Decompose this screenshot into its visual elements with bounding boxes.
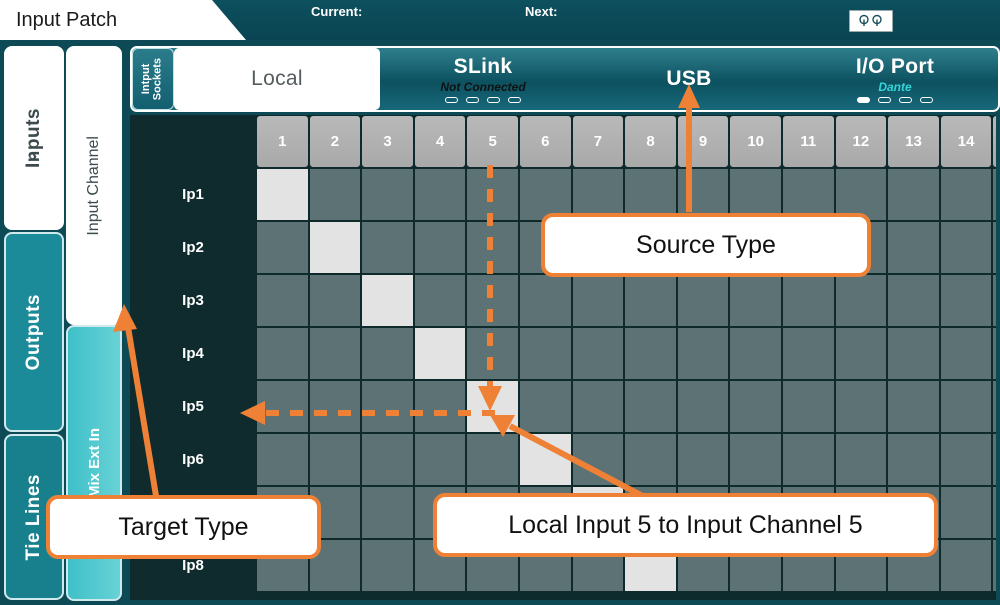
patch-cell[interactable] <box>309 168 362 221</box>
patch-grid-row-label: Ip6 <box>130 433 256 486</box>
patch-cell[interactable] <box>624 274 677 327</box>
patch-grid-column-header[interactable]: 3 <box>361 115 414 168</box>
patch-cell[interactable] <box>572 274 625 327</box>
patch-cell[interactable] <box>256 274 309 327</box>
status-dot <box>445 97 458 103</box>
patch-grid-column-header[interactable]: 6 <box>519 115 572 168</box>
input-sockets-group-label: Intput Sockets <box>132 48 174 110</box>
patch-cell[interactable] <box>519 433 572 486</box>
tab-slink[interactable]: SLink Not Connected <box>380 48 586 110</box>
patch-cell[interactable] <box>256 486 309 539</box>
patch-cell[interactable] <box>466 168 519 221</box>
sidebar-item-outputs[interactable]: Outputs <box>4 232 64 432</box>
patch-grid-row-label: Ip8 <box>130 539 256 592</box>
patch-cell[interactable] <box>466 221 519 274</box>
slink-status-dots <box>445 97 521 103</box>
patch-grid-column-header[interactable]: 2 <box>309 115 362 168</box>
patch-cell[interactable] <box>624 433 677 486</box>
patch-cell[interactable] <box>782 433 835 486</box>
patch-cell[interactable] <box>309 486 362 539</box>
next-scene-label: Next: <box>525 4 558 19</box>
input-patch-screen: Input Patch Current: Next: Inputs › Outp… <box>0 0 1000 600</box>
patch-cell[interactable] <box>414 380 467 433</box>
status-dot <box>508 97 521 103</box>
patch-grid-row-label: Ip1 <box>130 168 256 221</box>
tab-status: Not Connected <box>440 80 525 94</box>
patch-cell[interactable] <box>414 433 467 486</box>
patch-cell[interactable] <box>887 539 940 592</box>
patch-cell[interactable] <box>572 380 625 433</box>
chevron-right-icon: › <box>31 146 37 168</box>
sidebar-item-label: Tie Lines <box>23 474 45 561</box>
patch-cell[interactable] <box>624 486 677 539</box>
patch-cell[interactable] <box>729 327 782 380</box>
patch-cell[interactable] <box>782 274 835 327</box>
patch-cell[interactable] <box>572 486 625 539</box>
tab-label: Local <box>251 67 303 91</box>
patch-grid-row-label: Ip7 <box>130 486 256 539</box>
input-sockets-group-text: Intput Sockets <box>141 58 164 100</box>
patch-grid-column-header[interactable]: 11 <box>782 115 835 168</box>
patch-cell[interactable] <box>729 274 782 327</box>
tab-label: USB <box>666 67 711 91</box>
patch-cell[interactable] <box>309 433 362 486</box>
status-dot <box>899 97 912 103</box>
patch-grid-column-header[interactable]: 13 <box>887 115 940 168</box>
patch-cell[interactable] <box>782 486 835 539</box>
patch-cell[interactable] <box>361 274 414 327</box>
patch-cell[interactable] <box>466 539 519 592</box>
patch-cell[interactable] <box>782 168 835 221</box>
patch-cell[interactable] <box>940 168 993 221</box>
patch-grid-column-header[interactable]: 7 <box>572 115 625 168</box>
sidebar-item-inputs[interactable]: Inputs › <box>4 46 64 230</box>
input-sockets-tabbar: Intput Sockets Local SLink Not Connected… <box>130 46 1000 112</box>
patch-cell[interactable] <box>519 539 572 592</box>
page-title: Input Patch <box>0 9 117 32</box>
patch-cell[interactable] <box>992 327 996 380</box>
patch-cell[interactable] <box>361 221 414 274</box>
patch-cell[interactable] <box>729 539 782 592</box>
patch-cell[interactable] <box>414 274 467 327</box>
patch-cell[interactable] <box>414 168 467 221</box>
patch-grid-row-label: Ip3 <box>130 274 256 327</box>
patch-cell[interactable] <box>992 168 996 221</box>
patch-cell[interactable] <box>572 433 625 486</box>
patch-cell[interactable] <box>519 221 572 274</box>
patch-cell[interactable] <box>677 274 730 327</box>
sidebar-subitem-input-channel[interactable]: Input Channel <box>66 46 122 325</box>
patch-cell[interactable] <box>677 539 730 592</box>
patch-cell[interactable] <box>624 327 677 380</box>
patch-cell[interactable] <box>309 274 362 327</box>
status-dot <box>466 97 479 103</box>
patch-cell[interactable] <box>572 168 625 221</box>
patch-cell[interactable] <box>519 327 572 380</box>
patch-cell[interactable] <box>992 380 996 433</box>
patch-cell[interactable] <box>309 221 362 274</box>
patch-cell[interactable] <box>835 168 888 221</box>
patch-cell[interactable] <box>782 327 835 380</box>
patch-cell[interactable] <box>256 433 309 486</box>
patch-cell[interactable] <box>256 168 309 221</box>
patch-cell[interactable] <box>572 327 625 380</box>
sidebar-subitem-label: Input Channel <box>85 136 103 236</box>
patch-cell[interactable] <box>309 327 362 380</box>
patch-cell[interactable] <box>519 380 572 433</box>
patch-cell[interactable] <box>992 274 996 327</box>
patch-grid-column-header[interactable]: 10 <box>729 115 782 168</box>
patch-cell[interactable] <box>624 539 677 592</box>
patch-cell[interactable] <box>624 221 677 274</box>
tab-label: SLink <box>454 55 513 79</box>
patch-cell[interactable] <box>466 433 519 486</box>
tab-status: Dante <box>878 80 911 94</box>
patch-cell[interactable] <box>887 486 940 539</box>
patch-cell[interactable] <box>887 168 940 221</box>
patch-cell[interactable] <box>466 327 519 380</box>
patch-cell[interactable] <box>361 168 414 221</box>
patch-grid-column-header[interactable]: 9 <box>677 115 730 168</box>
patch-cell[interactable] <box>414 221 467 274</box>
patch-grid-row-label: Ip5 <box>130 380 256 433</box>
status-dot <box>487 97 500 103</box>
patch-cell[interactable] <box>519 274 572 327</box>
patch-cell[interactable] <box>782 380 835 433</box>
patch-grid-column-header[interactable]: 1 <box>256 115 309 168</box>
patch-cell[interactable] <box>729 433 782 486</box>
top-header-bar: Input Patch Current: Next: <box>0 0 1000 40</box>
patch-cell[interactable] <box>940 327 993 380</box>
patch-cell[interactable] <box>624 380 677 433</box>
tab-label: I/O Port <box>856 55 934 79</box>
patch-cell[interactable] <box>887 380 940 433</box>
patch-cell[interactable] <box>256 539 309 592</box>
patch-cell[interactable] <box>466 274 519 327</box>
patch-cell[interactable] <box>887 221 940 274</box>
patch-cell[interactable] <box>835 486 888 539</box>
patch-cell[interactable] <box>729 221 782 274</box>
patch-cell[interactable] <box>572 221 625 274</box>
patch-grid-column-header[interactable]: 4 <box>414 115 467 168</box>
patch-cell[interactable] <box>361 327 414 380</box>
patch-cell[interactable] <box>782 539 835 592</box>
patch-cell[interactable] <box>256 327 309 380</box>
patch-grid-column-header[interactable]: 12 <box>835 115 888 168</box>
patch-cell[interactable] <box>992 539 996 592</box>
patch-grid[interactable]: Ip1Ip2Ip3Ip4Ip5Ip6Ip7Ip8 123456789101112… <box>130 115 996 600</box>
patch-cell[interactable] <box>992 433 996 486</box>
patch-cell[interactable] <box>361 380 414 433</box>
patch-cell[interactable] <box>519 168 572 221</box>
patch-cell[interactable] <box>729 168 782 221</box>
sidebar-item-label: Outputs <box>23 294 45 370</box>
patch-cell[interactable] <box>466 380 519 433</box>
patch-cell[interactable] <box>729 486 782 539</box>
patch-cell[interactable] <box>835 221 888 274</box>
patch-cell[interactable] <box>835 433 888 486</box>
patch-cell[interactable] <box>940 539 993 592</box>
patch-cell[interactable] <box>940 433 993 486</box>
patch-cell[interactable] <box>940 274 993 327</box>
patch-cell[interactable] <box>835 539 888 592</box>
patch-grid-row-label: Ip4 <box>130 327 256 380</box>
patch-cell[interactable] <box>256 221 309 274</box>
patch-cell[interactable] <box>519 486 572 539</box>
patch-cell[interactable] <box>624 168 677 221</box>
patch-cell[interactable] <box>992 486 996 539</box>
sidebar-subitem-mix-ext-in[interactable]: Mix Ext In <box>66 325 122 601</box>
status-dot <box>878 97 891 103</box>
patch-cell[interactable] <box>256 380 309 433</box>
io-port-status-dots <box>857 97 933 103</box>
patch-cell[interactable] <box>677 380 730 433</box>
patch-grid-row-label: Ip2 <box>130 221 256 274</box>
patch-cell[interactable] <box>835 327 888 380</box>
patch-cell[interactable] <box>677 221 730 274</box>
patch-cell[interactable] <box>729 380 782 433</box>
patch-cell[interactable] <box>677 327 730 380</box>
status-dot <box>857 97 870 103</box>
patch-cell[interactable] <box>677 433 730 486</box>
patch-cell[interactable] <box>677 168 730 221</box>
patch-cell[interactable] <box>414 327 467 380</box>
patch-grid-column-header-partial[interactable] <box>992 115 996 168</box>
patch-cell[interactable] <box>572 539 625 592</box>
sidebar-subitem-label: Mix Ext In <box>86 428 103 498</box>
patch-cell[interactable] <box>361 539 414 592</box>
patch-grid-column-header[interactable]: 8 <box>624 115 677 168</box>
patch-cell[interactable] <box>887 433 940 486</box>
sidebar-item-tie-lines[interactable]: Tie Lines <box>4 434 64 600</box>
patch-cell[interactable] <box>677 486 730 539</box>
patch-cell[interactable] <box>835 380 888 433</box>
patch-cell[interactable] <box>309 539 362 592</box>
tab-usb[interactable]: USB <box>586 48 792 110</box>
patch-cell[interactable] <box>414 539 467 592</box>
patch-grid-column-header[interactable]: 5 <box>466 115 519 168</box>
patch-cell[interactable] <box>361 433 414 486</box>
patch-cell[interactable] <box>309 380 362 433</box>
patch-cell[interactable] <box>361 486 414 539</box>
patch-cell[interactable] <box>940 486 993 539</box>
status-dot <box>920 97 933 103</box>
tab-local[interactable]: Local <box>174 48 380 110</box>
patch-grid-row-labels: Ip1Ip2Ip3Ip4Ip5Ip6Ip7Ip8 <box>130 115 256 600</box>
patch-cell[interactable] <box>414 486 467 539</box>
patch-cell[interactable] <box>835 274 888 327</box>
patch-cell[interactable] <box>940 380 993 433</box>
patch-cell[interactable] <box>992 221 996 274</box>
page-title-tab[interactable]: Input Patch <box>0 0 246 40</box>
tab-io-port[interactable]: I/O Port Dante <box>792 48 998 110</box>
patch-cell[interactable] <box>887 274 940 327</box>
patch-grid-column-header[interactable]: 14 <box>940 115 993 168</box>
patch-cell[interactable] <box>887 327 940 380</box>
patch-cell[interactable] <box>782 221 835 274</box>
current-scene-label: Current: <box>311 4 362 19</box>
scene-meter-icon[interactable] <box>849 10 893 32</box>
patch-cell[interactable] <box>940 221 993 274</box>
patch-cell[interactable] <box>466 486 519 539</box>
